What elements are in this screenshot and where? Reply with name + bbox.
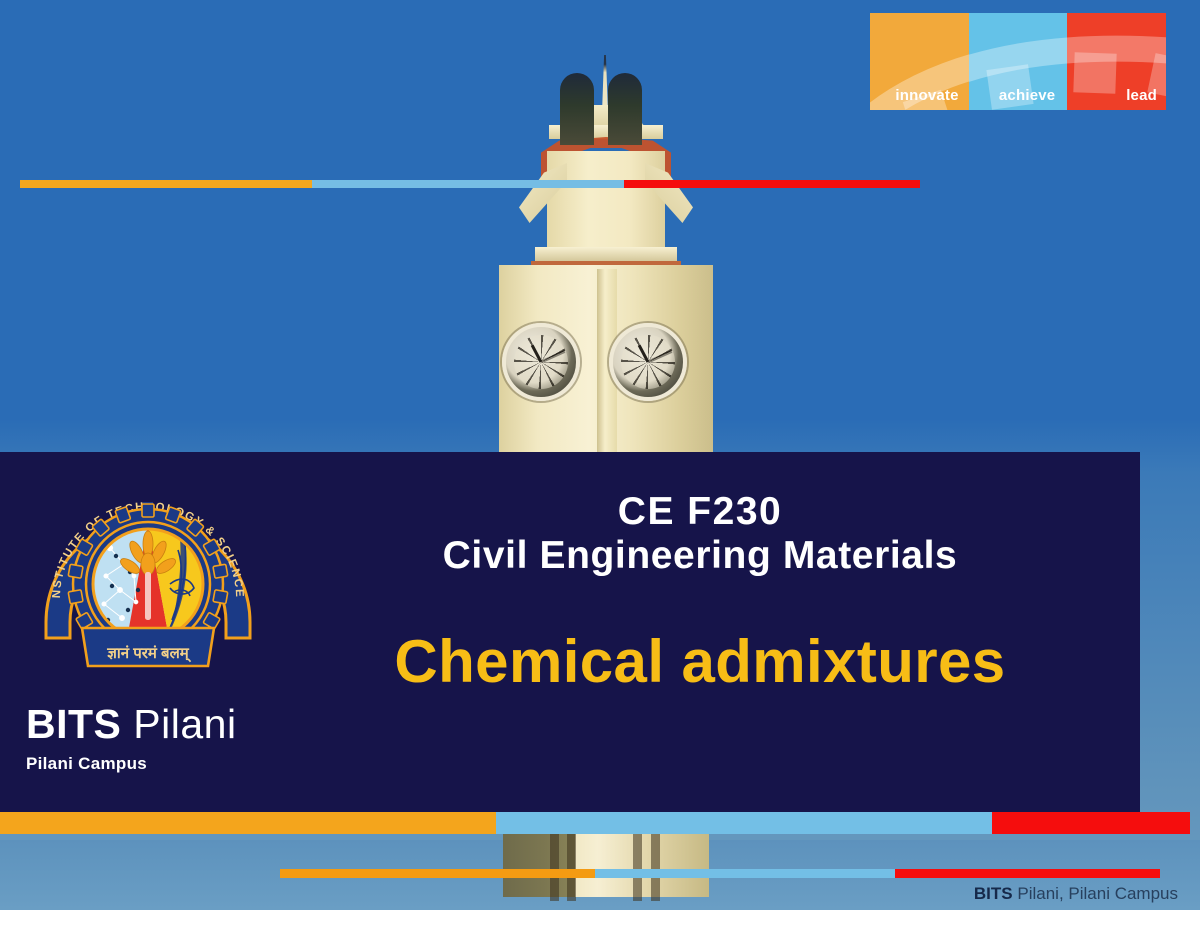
rule-middle-orange [0, 812, 496, 834]
belfry-arch-right [608, 73, 642, 145]
rule-top-orange [20, 180, 312, 188]
title-panel: BIRLA INSTITUTE OF TECHNOLOGY & SCIENCE … [0, 452, 1140, 812]
crest-svg: BIRLA INSTITUTE OF TECHNOLOGY & SCIENCE … [38, 472, 258, 687]
decorative-rule-lower [280, 869, 1160, 878]
bits-pilani-crest-icon: BIRLA INSTITUTE OF TECHNOLOGY & SCIENCE … [38, 472, 258, 687]
rule-lower-orange [280, 869, 595, 878]
crest-motto: ज्ञानं परमं बलम् [106, 645, 191, 663]
slide-topic-title: Chemical admixtures [270, 630, 1130, 693]
course-name: Civil Engineering Materials [270, 534, 1130, 578]
wordmark-pilani: Pilani [121, 701, 236, 747]
course-code: CE F230 [270, 490, 1130, 534]
rule-lower-blue [595, 869, 895, 878]
clock-spokes-right [621, 335, 675, 389]
clock-face-right [609, 323, 687, 401]
wordmark-bits: BITS [26, 701, 121, 747]
decorative-rule-top [20, 180, 920, 188]
logo-segment-innovate: innovate [870, 13, 969, 110]
rule-top-blue [312, 180, 624, 188]
rule-lower-red [895, 869, 1160, 878]
footer-campus: Pilani, Pilani Campus [1013, 884, 1178, 903]
bits-pilani-wordmark: BITS Pilani Pilani Campus [26, 704, 306, 774]
logo-label-lead: lead [1067, 87, 1166, 104]
logo-label-achieve: achieve [969, 87, 1068, 104]
bottom-white-strip [0, 910, 1200, 927]
footer-bits: BITS [974, 884, 1013, 903]
innovate-achieve-lead-logo: innovate achieve lead [870, 13, 1166, 110]
slide-heading-group: CE F230 Civil Engineering Materials [270, 490, 1130, 577]
clock-face-left [502, 323, 580, 401]
rule-top-red [624, 180, 920, 188]
logo-segment-lead: lead [1067, 13, 1166, 110]
footer-text: BITS Pilani, Pilani Campus [974, 884, 1178, 904]
rule-middle-red [992, 812, 1190, 834]
logo-segment-achieve: achieve [969, 13, 1068, 110]
logo-label-innovate: innovate [870, 87, 969, 104]
wordmark-main: BITS Pilani [26, 704, 306, 745]
rule-middle-blue [496, 812, 992, 834]
clock-spokes-left [514, 335, 568, 389]
decorative-rule-middle [0, 812, 1190, 834]
slide-footer: BITS Pilani, Pilani Campus [0, 878, 1200, 910]
wordmark-campus: Pilani Campus [26, 754, 306, 774]
title-slide: innovate achieve lead [0, 0, 1200, 927]
belfry-arch-left [560, 73, 594, 145]
